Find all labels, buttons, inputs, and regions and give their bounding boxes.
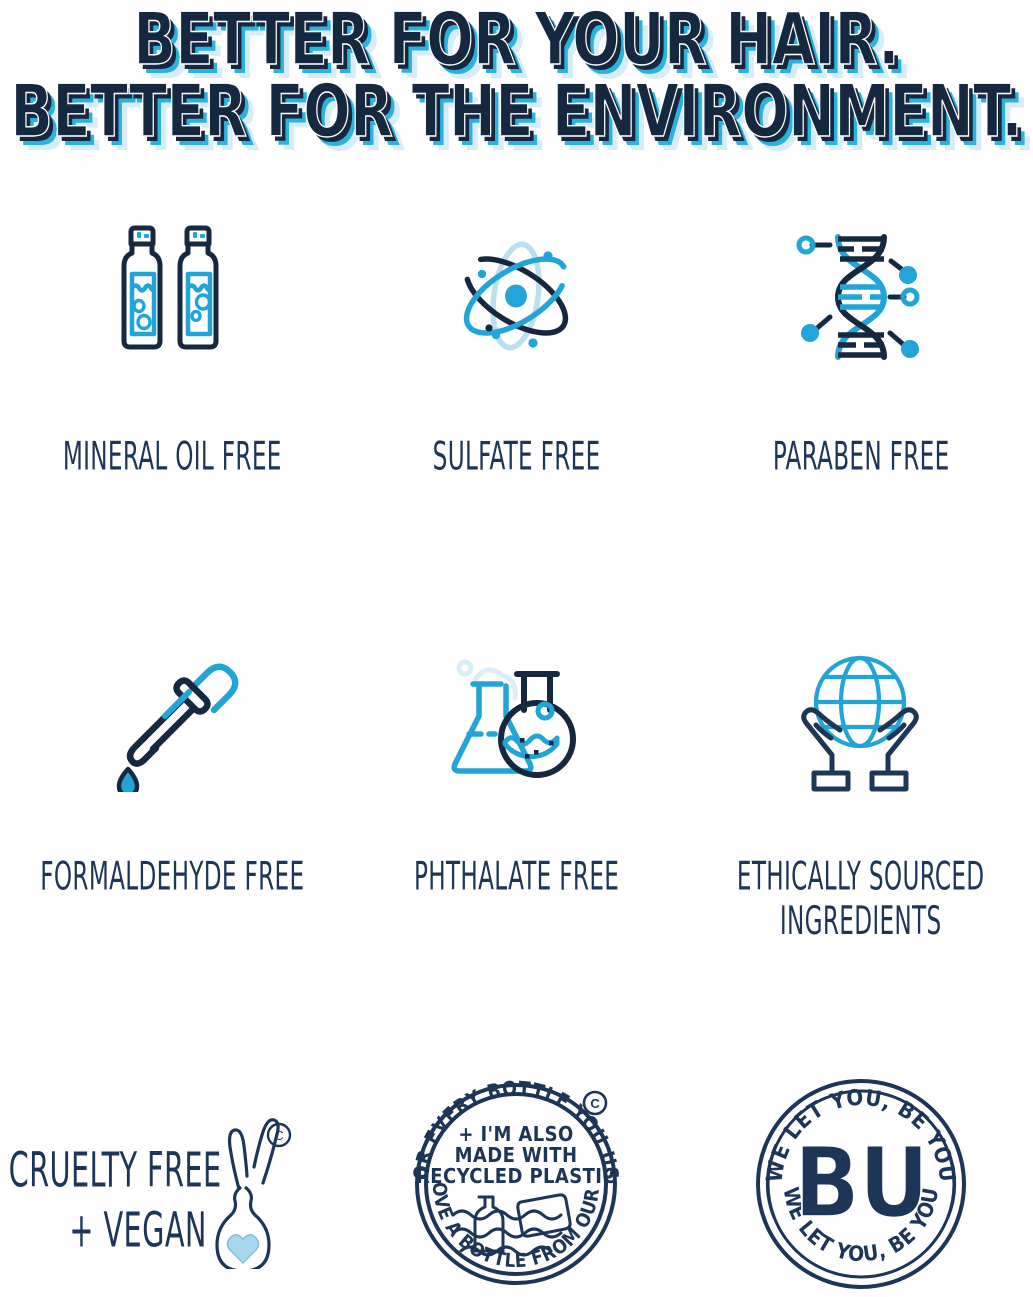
feature-cell-formaldehyde-free: FORMALDEHYDE FREE — [0, 602, 344, 929]
badge-cruelty-free-vegan: CRUELTY FREE + VEGAN C — [0, 1070, 344, 1297]
headline-inline-1: BETTER FOR YOUR HAIR. — [134, 6, 900, 74]
globe-in-hands-icon — [778, 602, 943, 792]
feature-cell-mineral-oil-free: MINERAL OIL FREE — [0, 180, 344, 472]
feature-cell-ethically-sourced: ETHICALLY SOURCED INGREDIENTS — [689, 602, 1033, 929]
bu-monogram-inline: BU — [794, 1127, 928, 1239]
lab-flasks-icon — [439, 602, 594, 792]
copyright-icon: C — [584, 1092, 606, 1114]
feature-row-2: FORMALDEHYDE FREE — [0, 602, 1033, 929]
feature-label: MINERAL OIL FREE — [63, 434, 282, 478]
feature-cell-sulfate-free: SULFATE FREE — [344, 180, 688, 472]
feature-grid: MINERAL OIL FREE — [0, 180, 1033, 929]
feature-cell-phthalate-free: PHTHALATE FREE — [344, 602, 688, 929]
rabbit-icon — [217, 1119, 278, 1268]
headline-line-2: BETTER FOR THE ENVIRONMENT. BETTER FOR T… — [11, 78, 1023, 146]
dropper-pipette-icon — [97, 602, 247, 792]
feature-label: PHTHALATE FREE — [414, 854, 619, 898]
dna-helix-icon — [786, 180, 936, 370]
svg-text:C: C — [591, 1096, 601, 1111]
headline-block: BETTER FOR YOUR HAIR. BETTER FOR YOUR HA… — [0, 0, 1033, 180]
promo-page: BETTER FOR YOUR HAIR. BETTER FOR YOUR HA… — [0, 0, 1033, 1297]
badge-bu-seal: WE LET YOU, BE YOU WE LET YOU, BE YOU BU… — [689, 1070, 1033, 1297]
svg-text:C: C — [274, 1128, 283, 1143]
feature-row-1: MINERAL OIL FREE — [0, 180, 1033, 472]
badge-row: CRUELTY FREE + VEGAN C — [0, 1070, 1033, 1297]
feature-label: ETHICALLY SOURCED INGREDIENTS — [737, 854, 985, 943]
bu-seal: WE LET YOU, BE YOU WE LET YOU, BE YOU BU… — [752, 1075, 970, 1293]
headline-inline-2: BETTER FOR THE ENVIRONMENT. — [11, 78, 1023, 146]
headline-line-1: BETTER FOR YOUR HAIR. BETTER FOR YOUR HA… — [134, 6, 900, 74]
cruelty-free-line-1: CRUELTY FREE — [9, 1141, 222, 1197]
feature-label: PARABEN FREE — [772, 434, 949, 478]
copyright-icon: C — [268, 1124, 290, 1146]
badge-recycled-plastic: FOR EVERY BOTTLE YOU USE WE REMOVE A BOT… — [344, 1070, 688, 1297]
feature-cell-paraben-free: PARABEN FREE — [689, 180, 1033, 472]
feature-label: FORMALDEHYDE FREE — [40, 854, 304, 898]
oil-bottles-icon — [108, 180, 236, 370]
cruelty-free-line-2: + VEGAN — [70, 1201, 207, 1257]
atom-icon — [441, 180, 591, 370]
ocean-bottle-seal: FOR EVERY BOTTLE YOU USE WE REMOVE A BOT… — [407, 1075, 625, 1293]
seal-center-line-3: RECYCLED PLASTIC — [416, 1164, 616, 1188]
feature-label: SULFATE FREE — [432, 434, 600, 478]
